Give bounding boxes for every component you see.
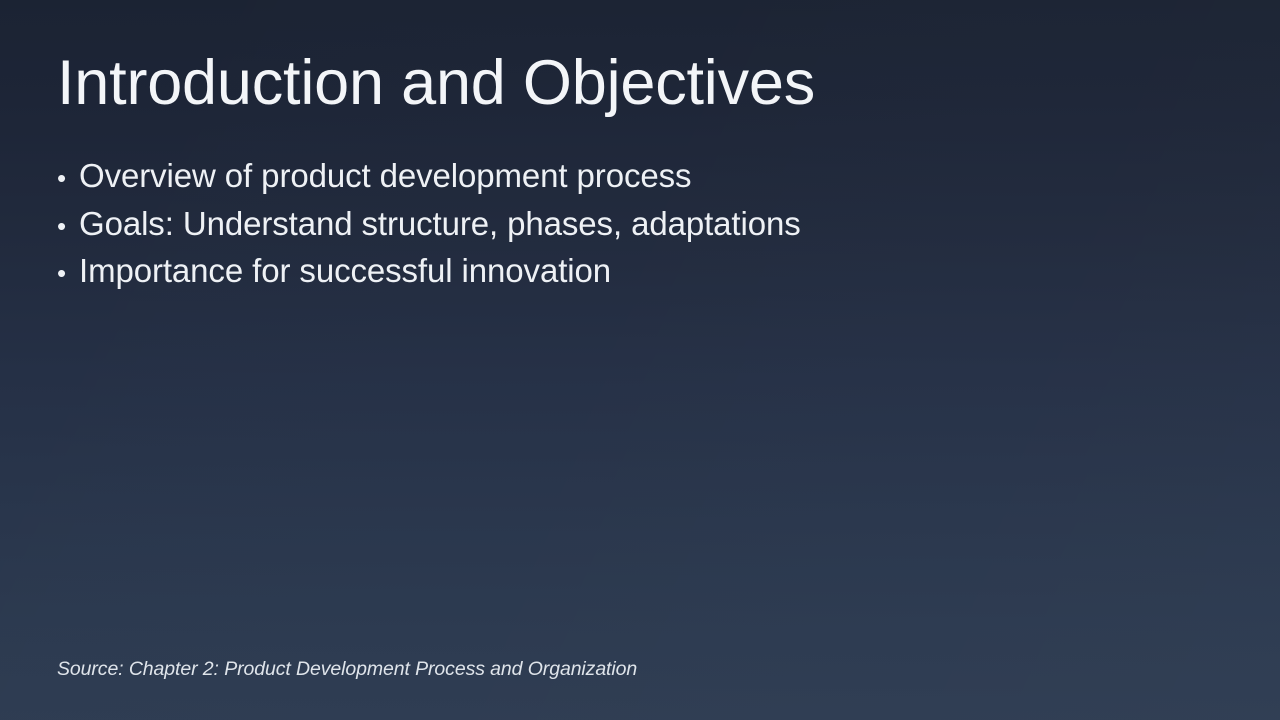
page-title: Introduction and Objectives: [57, 52, 1217, 115]
list-item-label: Overview of product development process: [79, 152, 691, 200]
bullet-dot-icon: •: [57, 250, 79, 298]
bullet-list: • Overview of product development proces…: [57, 152, 1217, 295]
presentation-slide: Introduction and Objectives • Overview o…: [0, 0, 1280, 720]
bullet-dot-icon: •: [57, 155, 79, 203]
slide-content: Introduction and Objectives • Overview o…: [0, 0, 1280, 720]
bullet-dot-icon: •: [57, 203, 79, 251]
list-item: • Goals: Understand structure, phases, a…: [57, 200, 1217, 248]
list-item: • Importance for successful innovation: [57, 247, 1217, 295]
list-item-label: Goals: Understand structure, phases, ada…: [79, 200, 801, 248]
list-item-label: Importance for successful innovation: [79, 247, 611, 295]
list-item: • Overview of product development proces…: [57, 152, 1217, 200]
source-citation: Source: Chapter 2: Product Development P…: [57, 655, 1217, 683]
